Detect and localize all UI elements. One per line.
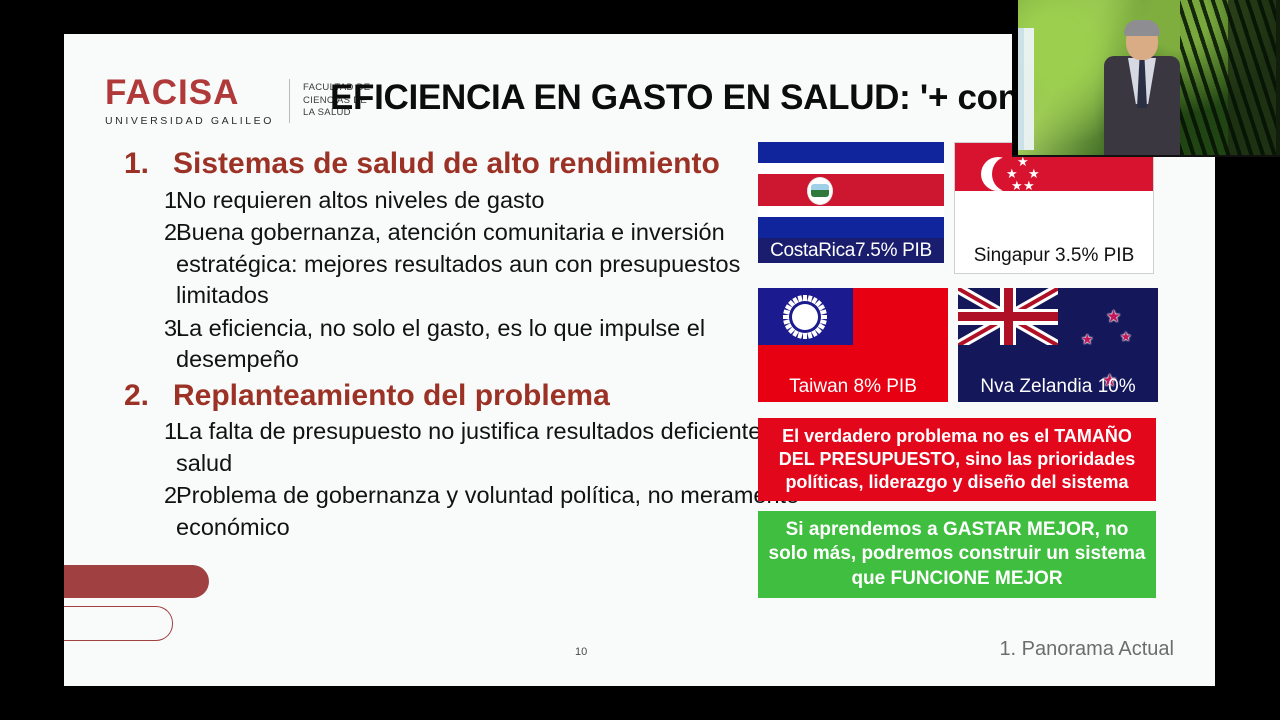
slide-page-number: 10 [575,646,587,658]
decorative-pill-outline [64,606,173,641]
list-item-number: 2. [124,480,176,511]
star-icon: ★ [1081,332,1094,346]
flag-card-nueva-zelandia: ★ ★ ★ ★ Nva Zelandia 10% [958,288,1158,402]
costa-rica-emblem-icon [807,177,833,205]
union-jack-icon [958,288,1058,345]
list-item: 2. Buena gobernanza, atención comunitari… [124,217,814,311]
presenter-hair [1124,20,1160,36]
slide-body-left: 1. Sistemas de salud de alto rendimiento… [124,144,814,543]
list-item-text: Buena gobernanza, atención comunitaria e… [176,217,814,311]
list-item-number: 1. [124,416,176,447]
list-item: 1. La falta de presupuesto no justifica … [124,416,814,479]
list-item-number: 1. [124,185,176,216]
section-number-1: 1. [124,146,173,183]
star-icon: ★ [1106,308,1121,325]
list-item-text: No requieren altos niveles de gasto [176,185,814,216]
section-2-items: 1. La falta de presupuesto no justifica … [124,416,814,543]
message-box-solution: Si aprendemos a GASTAR MEJOR, no solo má… [758,511,1156,598]
star-icon: ★ [1120,330,1132,343]
list-item: 3. La eficiencia, no solo el gasto, es l… [124,313,814,376]
presenter-video-overlay[interactable] [1012,0,1280,157]
message-box-problem: El verdadero problema no es el TAMAÑO DE… [758,418,1156,501]
flag-card-costa-rica: CostaRica7.5% PIB [758,142,944,274]
section-number-2: 2. [124,378,173,415]
slide-footer-note: 1. Panorama Actual [999,638,1174,661]
video-letterbox [1012,0,1018,155]
list-item-number: 3. [124,313,176,344]
flag-label-costa-rica: CostaRica7.5% PIB [758,238,944,263]
list-item-text: La falta de presupuesto no justifica res… [176,416,814,479]
list-item: 2. Problema de gobernanza y voluntad pol… [124,480,814,543]
logo-university-text: UNIVERSIDAD GALILEO [105,115,274,127]
logo-brand-block: FACISA UNIVERSIDAD GALILEO [105,75,274,127]
list-item-text: Problema de gobernanza y voluntad políti… [176,480,814,543]
section-heading-1: 1. Sistemas de salud de alto rendimiento [124,146,814,183]
star-icon: ★ [1023,179,1035,192]
flag-label-singapur: Singapur 3.5% PIB [955,239,1153,273]
flag-card-singapur: ★ ★ ★ ★ ★ Singapur 3.5% PIB [954,142,1154,274]
section-1-items: 1. No requieren altos niveles de gasto 2… [124,185,814,376]
flag-row-top: CostaRica7.5% PIB ★ ★ ★ ★ ★ [758,142,1158,274]
flag-row-bottom: Taiwan 8% PIB ★ ★ ★ ★ Nva Zelandia 10% [758,288,1158,402]
costa-rica-flag-icon [758,142,944,238]
flag-label-taiwan: Taiwan 8% PIB [758,376,948,398]
section-title-1: Sistemas de salud de alto rendimiento [173,146,814,183]
presenter-figure [1100,22,1184,155]
decorative-pill-filled [64,565,209,598]
flag-card-taiwan: Taiwan 8% PIB [758,288,948,402]
star-icon: ★ [1011,179,1023,192]
logo-brand-text: FACISA [105,75,239,110]
list-item-text: La eficiencia, no solo el gasto, es lo q… [176,313,814,376]
slide-right-column: CostaRica7.5% PIB ★ ★ ★ ★ ★ [758,142,1158,598]
section-title-2: Replanteamiento del problema [173,378,814,415]
list-item: 1. No requieren altos niveles de gasto [124,185,814,216]
list-item-number: 2. [124,217,176,248]
taiwan-sun-icon [792,304,818,330]
video-palm-frond [1180,0,1276,155]
logo-divider [289,79,290,123]
singapore-flag-icon: ★ ★ ★ ★ ★ [955,143,1153,239]
flag-label-nueva-zelandia: Nva Zelandia 10% [958,376,1158,398]
screen: FACISA UNIVERSIDAD GALILEO FACULTAD DE C… [0,0,1280,720]
section-heading-2: 2. Replanteamiento del problema [124,378,814,415]
